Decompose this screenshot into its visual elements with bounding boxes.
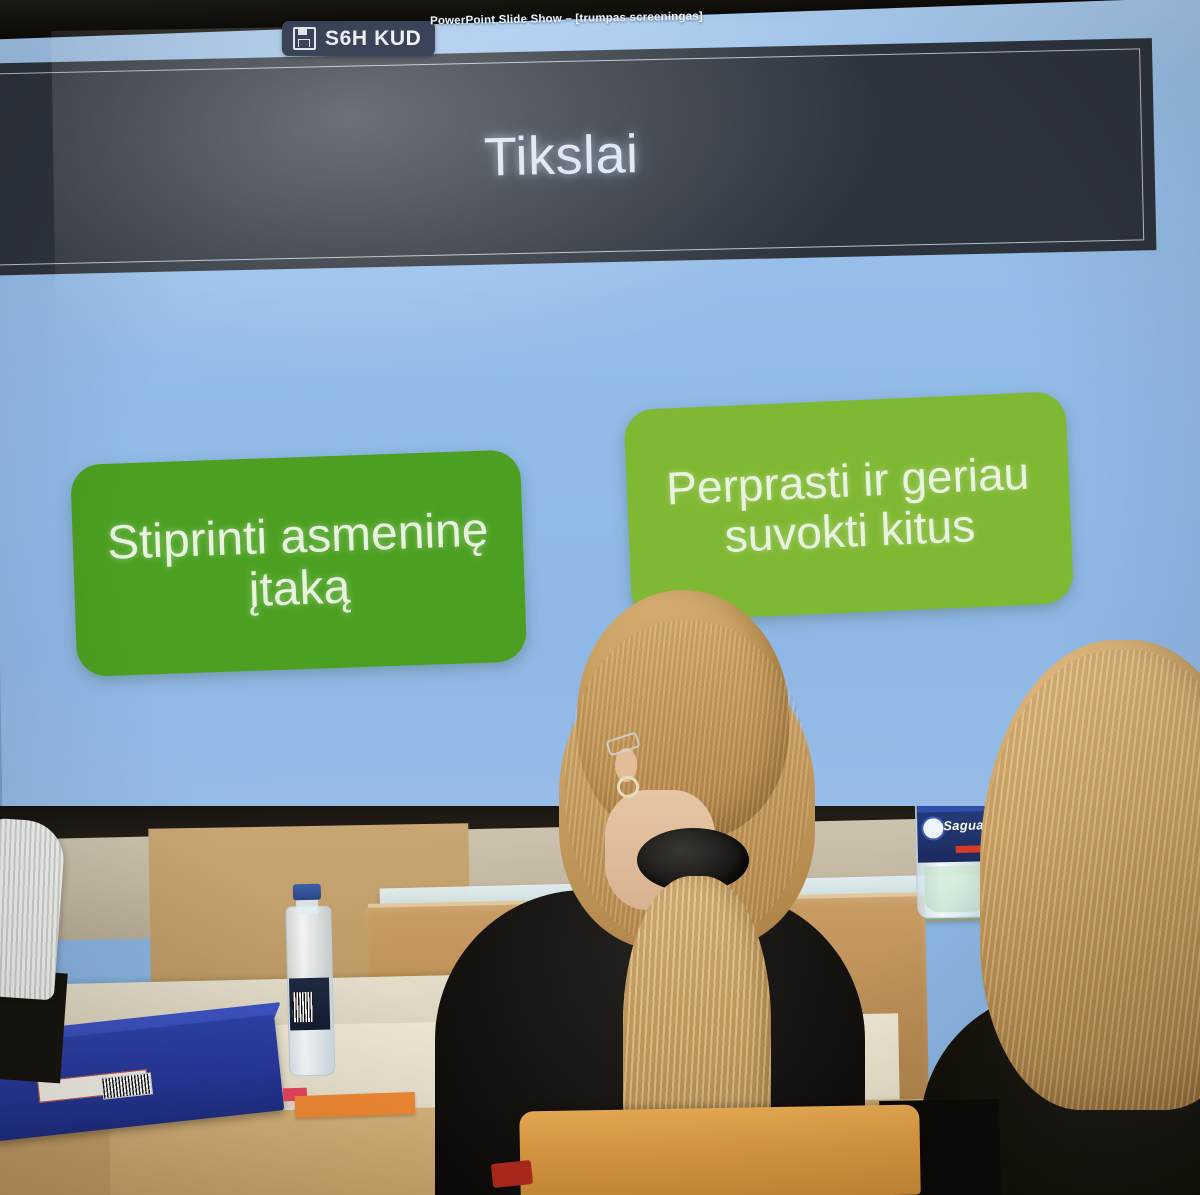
person-left-edge bbox=[0, 820, 72, 1050]
wooden-chair-back bbox=[519, 1105, 921, 1195]
small-water-bottle bbox=[281, 883, 338, 1074]
hoop-earring-icon bbox=[617, 776, 639, 798]
goal-box-right-text: Perprasti ir geriau suvokti kitus bbox=[646, 448, 1052, 565]
slide-title: Tikslai bbox=[0, 112, 1155, 200]
small-bottle-cap bbox=[293, 884, 321, 901]
small-bottle-label bbox=[289, 978, 330, 1031]
person-center-ponytail bbox=[455, 590, 815, 1195]
orange-paper-sheet bbox=[295, 1092, 416, 1118]
goal-box-right: Perprasti ir geriau suvokti kitus bbox=[623, 391, 1074, 622]
lecture-hall-screenshot: Tikslai Stiprinti asmeninę įtaką Perpras… bbox=[0, 0, 1200, 1195]
bottle-logo-badge bbox=[921, 816, 945, 840]
goal-box-left-text: Stiprinti asmeninę įtaką bbox=[94, 504, 503, 622]
screen-top-bezel bbox=[0, 0, 1200, 41]
red-object-on-chair bbox=[491, 1160, 533, 1188]
slide-title-band: Tikslai bbox=[0, 38, 1156, 276]
